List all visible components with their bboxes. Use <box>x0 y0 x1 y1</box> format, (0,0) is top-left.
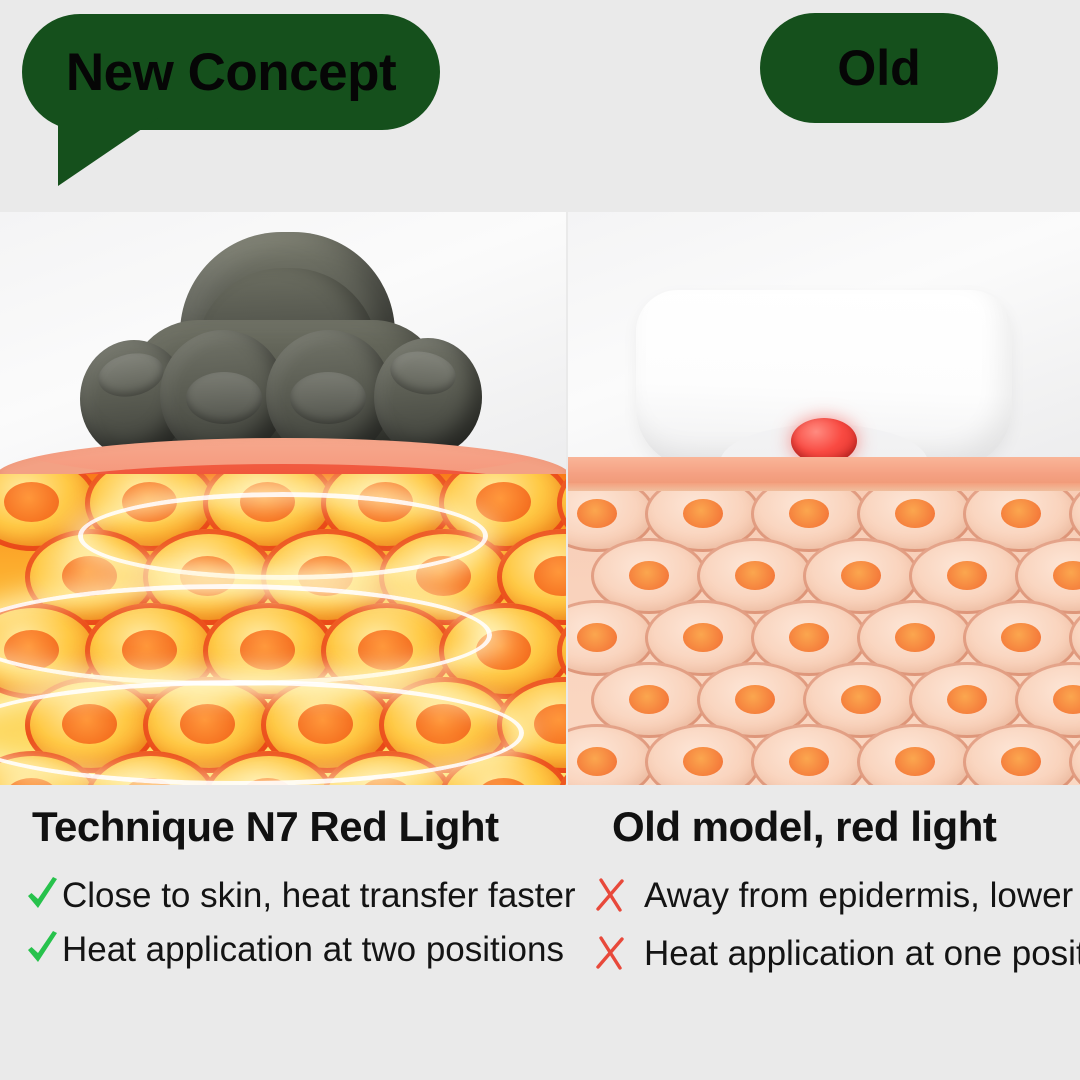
device-node-highlight <box>290 372 366 424</box>
infographic-page: New Concept Old <box>0 0 1080 1080</box>
column-new-concept-text: Technique N7 Red Light Close to skin, he… <box>0 805 566 983</box>
right-column-heading: Old model, red light <box>612 805 1080 849</box>
heat-penetration-arc <box>78 492 488 580</box>
cell-field-glowing <box>0 474 566 785</box>
left-bullet-list: Close to skin, heat transfer faster Heat… <box>0 875 566 969</box>
badge-new-concept: New Concept <box>22 14 440 130</box>
badge-old-label: Old <box>837 43 920 93</box>
badge-new-concept-label: New Concept <box>66 46 396 99</box>
left-column-heading: Technique N7 Red Light <box>32 805 566 849</box>
white-pad-device-icon <box>636 290 1012 468</box>
list-item-label: Heat application at one position <box>644 936 1080 971</box>
list-item-label: Heat application at two positions <box>62 932 564 967</box>
list-item: Away from epidermis, lower heat <box>592 875 1080 915</box>
list-item: Heat application at two positions <box>24 929 566 969</box>
list-item: Close to skin, heat transfer faster <box>24 875 566 915</box>
cross-icon <box>592 933 630 973</box>
panel-new-concept-image <box>0 212 566 785</box>
skin-surface-flat <box>568 457 1080 485</box>
cross-icon <box>592 875 630 915</box>
badge-old: Old <box>760 13 998 123</box>
speech-bubble-tail <box>58 118 158 186</box>
device-node-highlight <box>186 372 262 424</box>
check-icon <box>24 929 60 969</box>
check-icon <box>24 875 60 915</box>
cell-field-dull <box>568 491 1080 785</box>
column-old-model-text: Old model, red light Away from epidermis… <box>568 805 1080 991</box>
list-item-label: Close to skin, heat transfer faster <box>62 878 576 913</box>
panel-old-model-image <box>568 212 1080 785</box>
list-item-label: Away from epidermis, lower heat <box>644 878 1080 913</box>
list-item: Heat application at one position <box>592 933 1080 973</box>
right-bullet-list: Away from epidermis, lower heat Heat app… <box>568 875 1080 973</box>
heat-penetration-arc <box>0 680 524 785</box>
